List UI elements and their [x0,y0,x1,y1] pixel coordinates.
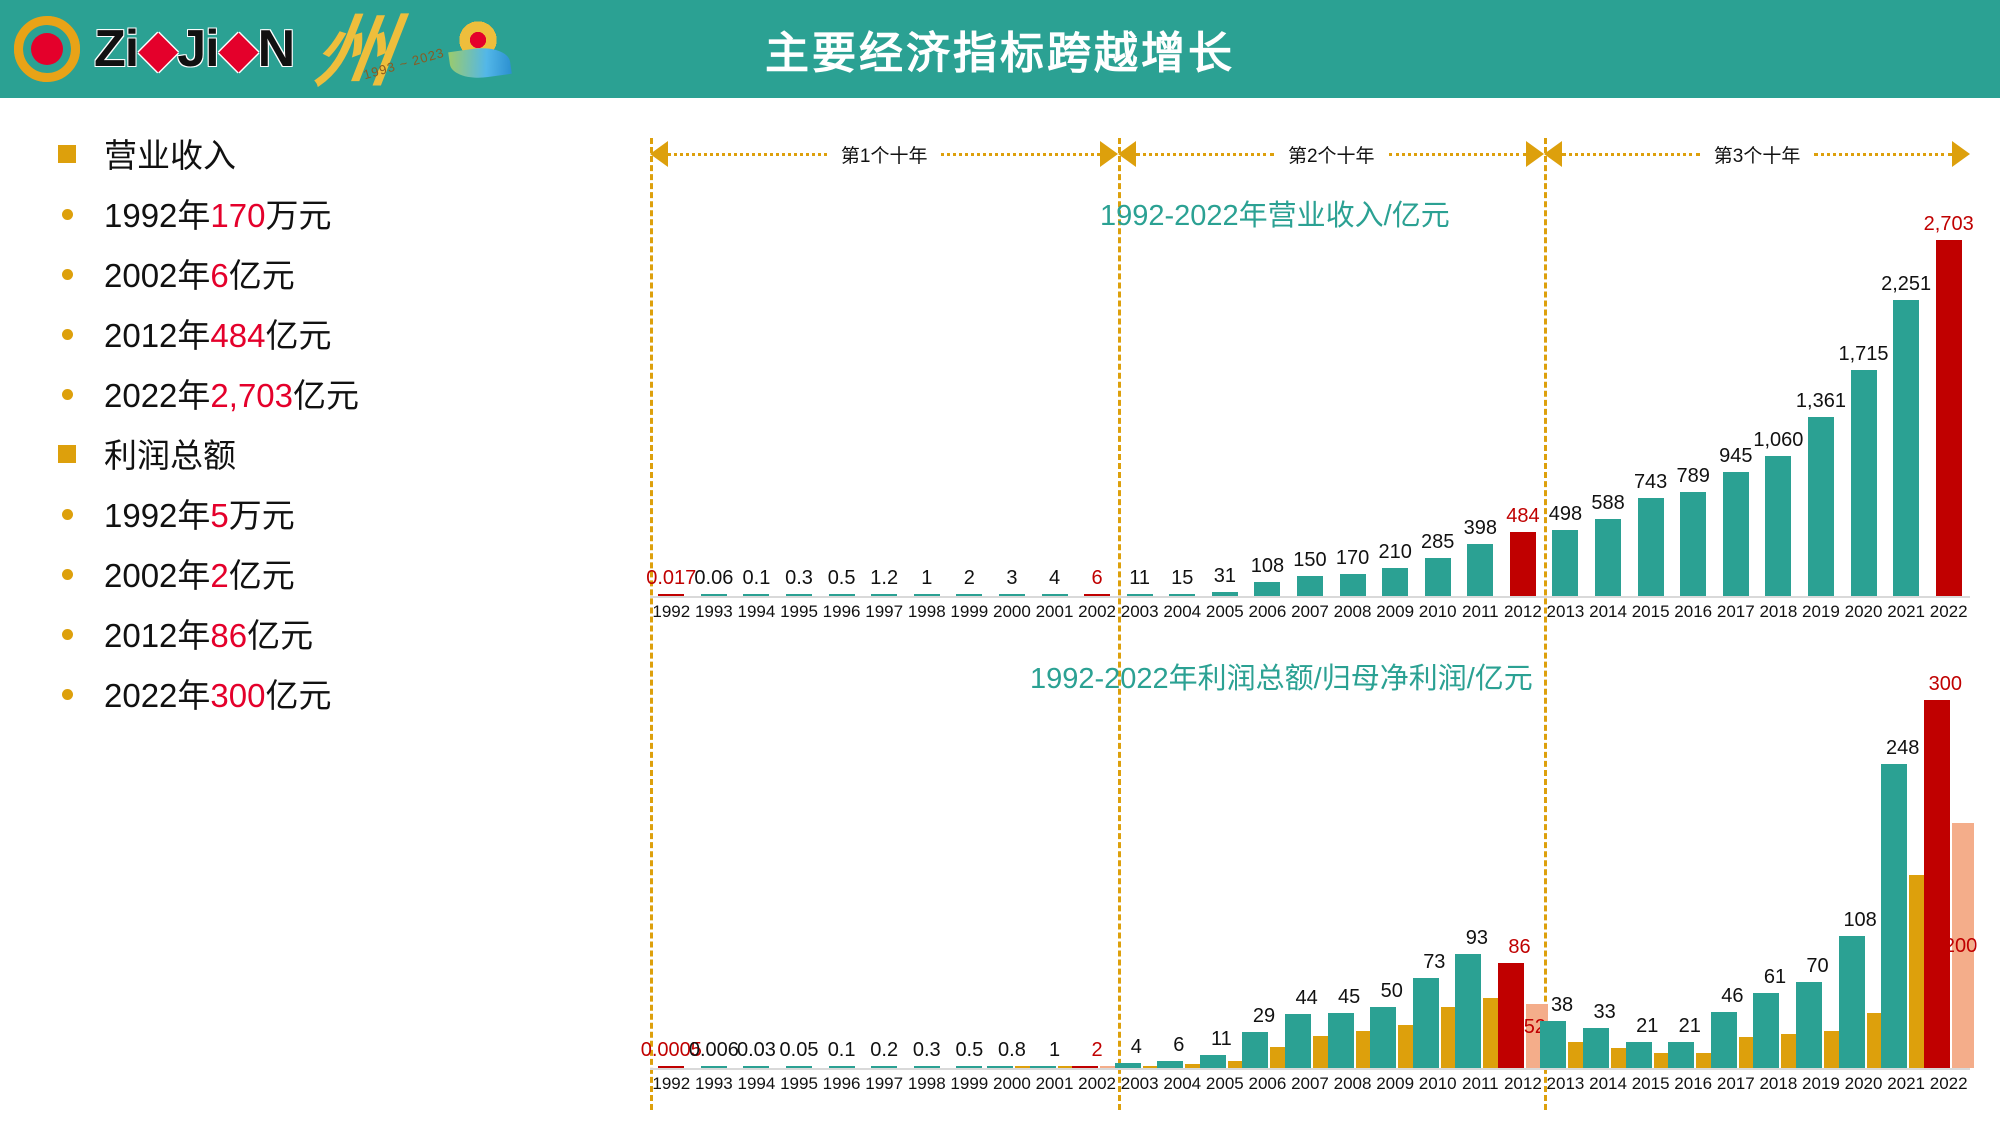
bar-primary [1297,576,1323,596]
chart-category: 0.051995 [778,700,821,1068]
x-axis-tick-label: 2017 [1717,1074,1755,1094]
bar-value-label: 44 [1295,987,1317,1010]
x-axis-tick-label: 1998 [908,1074,946,1094]
bar-primary [1030,1066,1056,1069]
bar-primary [1796,982,1822,1068]
list-item: 2012年86亿元 [58,608,478,668]
logo-center-dot [31,33,63,65]
company-logo: Zi◆Ji◆N 州 1993 ~ 2023 [10,2,506,96]
bar-primary [1157,1061,1183,1068]
x-axis-tick-label: 1997 [865,1074,903,1094]
bar-value-label: 2 [1092,1039,1103,1062]
chart-category: 12001 [1033,700,1076,1068]
logo-word-part1: Zi [94,20,138,78]
chart-bar-group [701,1066,727,1069]
chart-category: 3982011 [1459,240,1502,596]
chart-bar-group [1924,700,1974,1068]
x-axis-tick-label: 2001 [1036,602,1074,622]
key-metrics-list: 营业收入 1992年170万元 2002年6亿元 2012年484亿元 2022… [58,128,478,728]
bar-value-label: 4 [1049,567,1060,590]
metric-heading-revenue: 营业收入 [104,128,236,184]
chart-category: 2852010 [1416,240,1459,596]
chart-bar-group [1169,594,1195,597]
bar-value-label: 150 [1293,549,1326,572]
chart-bar-group [1723,472,1749,596]
chart-category: 86522012 [1502,700,1545,1068]
logo-word-part2: Ji [177,20,218,78]
bar-primary [1413,978,1439,1068]
decade-segment-1: 第1个十年 [650,138,1118,170]
bar-value-label: 300 [1929,673,1962,696]
chart-bar-group [1297,576,1323,596]
x-axis-tick-label: 2015 [1632,1074,1670,1094]
chart-category: 0.00051992 [650,700,693,1068]
revenue-chart-title: 1992-2022年营业收入/亿元 [1100,192,1450,234]
bar-primary [956,1066,982,1069]
x-axis-tick-label: 2000 [993,1074,1031,1094]
bar-primary [701,594,727,597]
chart-category: 1502007 [1289,240,1332,596]
bar-primary [658,594,684,597]
chart-category: 0.51996 [820,240,863,596]
dot-bullet-icon [62,209,73,220]
x-axis-tick-label: 1992 [652,602,690,622]
x-axis-tick-label: 2019 [1802,1074,1840,1094]
x-axis-tick-label: 1994 [738,602,776,622]
list-item: 2002年6亿元 [58,248,478,308]
bar-primary [786,1066,812,1069]
bar-value-label: 0.8 [998,1039,1026,1062]
bar-primary [1839,936,1865,1068]
bar-primary [1498,963,1524,1068]
bar-value-label: 108 [1843,909,1876,932]
decade-dotted-line [941,153,1100,156]
chart-category: 1,3612019 [1800,240,1843,596]
bar-primary [743,1066,769,1069]
logo-word-part3: N [258,20,295,78]
x-axis-tick-label: 2009 [1376,1074,1414,1094]
x-axis-tick-label: 2000 [993,602,1031,622]
bar-value-label: 398 [1464,517,1497,540]
chart-bar-group [1084,594,1110,597]
chart-bar-group [1467,544,1493,596]
bar-primary [1382,568,1408,596]
bar-primary [1200,1055,1226,1068]
bar-primary [786,594,812,597]
chart-category: 382013 [1544,700,1587,1068]
chart-category: 612018 [1757,700,1800,1068]
chart-bar-group [1851,370,1877,596]
bar-value-label: 0.1 [828,1039,856,1062]
bar-primary [1127,594,1153,597]
decade-dotted-line [1814,153,1952,156]
metric-profit-2022: 2022年300亿元 [104,668,331,724]
chart-bar-group [1042,594,1068,597]
x-axis-tick-label: 2016 [1674,1074,1712,1094]
bar-value-label: 61 [1764,966,1786,989]
metric-profit-1992: 1992年5万元 [104,488,295,544]
chart-category: 0.21997 [863,700,906,1068]
bar-primary [1595,519,1621,596]
x-axis-tick-label: 1995 [780,602,818,622]
chart-bar-group [914,594,940,597]
chart-bar-group [701,594,727,597]
x-axis-tick-label: 2008 [1334,1074,1372,1094]
bar-value-label: 2,703 [1924,213,1974,236]
bar-primary [1808,417,1834,596]
bar-value-label: 15 [1171,567,1193,590]
slide-header: Zi◆Ji◆N 州 1993 ~ 2023 主要经济指标跨越增长 [0,0,2000,98]
chart-bar-group [1680,492,1706,596]
chart-category: 932011 [1459,700,1502,1068]
profit-bar-chart: 0.000519920.00619930.0319940.0519950.119… [650,700,1970,1068]
bar-primary [871,594,897,597]
bar-primary [829,594,855,597]
chart-bar-group [829,1066,855,1069]
bar-primary [914,1066,940,1069]
bar-primary [1924,700,1950,1068]
bar-value-label: 1 [921,567,932,590]
x-axis-tick-label: 1999 [950,602,988,622]
x-axis-tick-label: 1993 [695,602,733,622]
chart-category: 0.061993 [693,240,736,596]
x-axis-tick-label: 2012 [1504,602,1542,622]
dot-bullet-icon [62,389,73,400]
chart-category: 212015 [1629,700,1672,1068]
bar-value-label: 170 [1336,547,1369,570]
chart-category: 1.21997 [863,240,906,596]
decade-segment-3: 第3个十年 [1544,138,1970,170]
dot-bullet-icon [62,629,73,640]
bar-value-label: 6 [1092,567,1103,590]
chart-bar-group [871,1066,897,1069]
chart-bar-group [1340,574,1366,596]
x-axis-tick-label: 2018 [1759,602,1797,622]
chart-bar-group [1595,519,1621,596]
x-axis-tick-label: 2007 [1291,602,1329,622]
chart-category: 1,7152020 [1842,240,1885,596]
list-item: 利润总额 [58,428,478,488]
chart-category: 11998 [905,240,948,596]
bar-value-label: 73 [1423,951,1445,974]
profit-axis-baseline [650,1068,1970,1070]
x-axis-tick-label: 2013 [1547,602,1585,622]
x-axis-tick-label: 2009 [1376,602,1414,622]
bar-value-label: 86 [1508,936,1530,959]
decade-dotted-line [668,153,827,156]
bar-value-label: 33 [1594,1001,1616,1024]
chart-bar-group [1808,417,1834,596]
bar-value-label: 0.05 [780,1039,819,1062]
chart-category: 0.031994 [735,700,778,1068]
chart-bar-group [914,1066,940,1069]
bar-primary [1370,1007,1396,1068]
bar-primary [1680,492,1706,596]
bar-primary [1072,1066,1098,1069]
chart-category: 7892016 [1672,240,1715,596]
chart-category: 212016 [1672,700,1715,1068]
x-axis-tick-label: 2010 [1419,1074,1457,1094]
metric-heading-profit: 利润总额 [104,428,236,484]
square-bullet-icon [58,145,76,163]
bar-value-label: 11 [1211,1028,1232,1051]
decade-label-3: 第3个十年 [1700,141,1815,168]
bar-primary [701,1066,727,1069]
x-axis-tick-label: 1996 [823,1074,861,1094]
revenue-bar-chart: 0.01719920.0619930.119940.319950.519961.… [650,240,1970,596]
bar-primary [743,594,769,597]
decade-segment-2: 第2个十年 [1118,138,1544,170]
chart-category: 3002002022 [1927,700,1970,1068]
bar-value-label: 0.5 [828,567,856,590]
bar-value-label: 38 [1551,994,1573,1017]
chart-category: 4982013 [1544,240,1587,596]
chart-category: 0.31995 [778,240,821,596]
chart-bar-group [1425,558,1451,596]
chart-category: 292006 [1246,700,1289,1068]
chart-category: 1,0602018 [1757,240,1800,596]
chart-category: 4842012 [1502,240,1545,596]
chart-bar-group [1638,498,1664,596]
x-axis-tick-label: 2008 [1334,602,1372,622]
bar-value-label: 21 [1679,1015,1701,1038]
arrow-right-icon [1952,141,1970,167]
bar-primary [1723,472,1749,596]
x-axis-tick-label: 2014 [1589,602,1627,622]
chart-category: 0.11996 [820,700,863,1068]
x-axis-tick-label: 2001 [1036,1074,1074,1094]
bar-primary [1084,594,1110,597]
dot-bullet-icon [62,329,73,340]
chart-category: 112005 [1204,700,1247,1068]
dot-bullet-icon [62,509,73,520]
bar-primary [871,1066,897,1069]
chart-category: 442007 [1289,700,1332,1068]
bar-primary [1753,993,1779,1068]
x-axis-tick-label: 2021 [1887,1074,1925,1094]
chart-bar-group [829,594,855,597]
chart-category: 1082020 [1842,700,1885,1068]
bar-value-label: 29 [1253,1005,1275,1028]
bar-value-label: 1,060 [1753,429,1803,452]
chart-bar-group [956,1066,982,1069]
bar-primary [1510,532,1536,596]
chart-bar-group [1510,532,1536,596]
chart-category: 452008 [1331,700,1374,1068]
bar-value-label: 46 [1721,985,1743,1008]
x-axis-tick-label: 2013 [1547,1074,1585,1094]
bar-value-label-secondary: 200 [1944,935,1977,958]
anniversary-calligraphy: 州 [311,14,400,92]
anniversary-emblem: 州 1993 ~ 2023 [316,6,506,92]
bar-primary [829,1066,855,1069]
chart-bar-group [743,594,769,597]
metric-profit-2012: 2012年86亿元 [104,608,313,664]
bar-value-label: 4 [1131,1036,1142,1059]
x-axis-tick-label: 2017 [1717,602,1755,622]
chart-category: 462017 [1715,700,1758,1068]
chart-category: 32000 [991,240,1034,596]
x-axis-tick-label: 2016 [1674,602,1712,622]
chart-category: 0.0061993 [693,700,736,1068]
metric-revenue-2022: 2022年2,703亿元 [104,368,359,424]
x-axis-tick-label: 2005 [1206,1074,1244,1094]
x-axis-tick-label: 2002 [1078,1074,1116,1094]
bar-primary [999,594,1025,597]
x-axis-tick-label: 2015 [1632,602,1670,622]
bar-value-label: 1 [1049,1039,1060,1062]
chart-category: 62004 [1161,700,1204,1068]
x-axis-tick-label: 2012 [1504,1074,1542,1094]
metric-revenue-1992: 1992年170万元 [104,188,331,244]
bar-primary [658,1066,684,1069]
bar-primary [1765,456,1791,596]
bar-primary [1711,1012,1737,1068]
x-axis-tick-label: 2022 [1930,602,1968,622]
logo-diamond-icon: ◆ [138,20,177,78]
chart-category: 2,2512021 [1885,240,1928,596]
chart-category: 42001 [1033,240,1076,596]
bar-value-label: 70 [1806,955,1828,978]
chart-bar-group [999,594,1025,597]
x-axis-tick-label: 1994 [738,1074,776,1094]
bar-primary [1638,498,1664,596]
bar-value-label: 2,251 [1881,273,1931,296]
list-item: 营业收入 [58,128,478,188]
metric-revenue-2012: 2012年484亿元 [104,308,331,364]
arrow-right-icon [1100,141,1118,167]
chart-category: 5882014 [1587,240,1630,596]
x-axis-tick-label: 2022 [1930,1074,1968,1094]
bar-value-label: 0.1 [743,567,771,590]
x-axis-tick-label: 1998 [908,602,946,622]
bar-primary [1455,954,1481,1068]
bar-value-label: 1.2 [870,567,898,590]
bar-value-label: 45 [1338,986,1360,1009]
bar-value-label: 0.3 [785,567,813,590]
chart-bar-group [1212,592,1238,596]
x-axis-tick-label: 2010 [1419,602,1457,622]
x-axis-tick-label: 2002 [1078,602,1116,622]
x-axis-tick-label: 2021 [1887,602,1925,622]
x-axis-tick-label: 1993 [695,1074,733,1094]
bar-primary [1467,544,1493,596]
chart-category: 21999 [948,240,991,596]
chart-bar-group [743,1066,769,1069]
x-axis-tick-label: 2020 [1845,1074,1883,1094]
bar-value-label: 498 [1549,503,1582,526]
revenue-axis-baseline [650,596,1970,598]
bar-value-label: 789 [1677,465,1710,488]
chart-category: 2,7032022 [1927,240,1970,596]
dot-bullet-icon [62,569,73,580]
bar-value-label: 588 [1591,492,1624,515]
bar-value-label: 3 [1006,567,1017,590]
decade-label-1: 第1个十年 [827,141,942,168]
chart-category: 502009 [1374,700,1417,1068]
chart-bar-group [1936,240,1962,596]
bar-value-label: 6 [1173,1034,1184,1057]
zijin-emblem-icon [10,12,84,86]
bar-value-label: 248 [1886,737,1919,760]
chart-category: 0.82000 [991,700,1034,1068]
chart-category: 732010 [1416,700,1459,1068]
x-axis-tick-label: 1999 [950,1074,988,1094]
bar-value-label: 31 [1214,565,1236,588]
bar-primary [1328,1013,1354,1068]
chart-bar-group [1382,568,1408,596]
bar-primary [956,594,982,597]
metric-profit-2002: 2002年2亿元 [104,548,295,604]
chart-category: 22002 [1076,700,1119,1068]
chart-category: 9452017 [1715,240,1758,596]
chart-category: 312005 [1204,240,1247,596]
bar-primary [1340,574,1366,596]
bar-value-label: 2 [964,567,975,590]
arrow-right-icon [1526,141,1544,167]
bar-value-label: 0.5 [955,1039,983,1062]
bar-value-label: 93 [1466,927,1488,950]
bar-value-label: 285 [1421,531,1454,554]
bar-value-label: 0.3 [913,1039,941,1062]
chart-category: 0.51999 [948,700,991,1068]
logo-diamond-icon-2: ◆ [219,20,258,78]
bar-primary [1042,594,1068,597]
bar-primary [1893,300,1919,596]
chart-bar-group [1552,530,1578,596]
bar-value-label: 0.006 [689,1039,739,1062]
square-bullet-icon [58,445,76,463]
list-item: 2022年300亿元 [58,668,478,728]
chart-bar-group [956,594,982,597]
list-item: 2012年484亿元 [58,308,478,368]
bar-value-label: 945 [1719,445,1752,468]
bar-value-label: 743 [1634,471,1667,494]
x-axis-tick-label: 2004 [1163,1074,1201,1094]
chart-category: 2102009 [1374,240,1417,596]
dot-bullet-icon [62,689,73,700]
chart-bar-group [786,594,812,597]
chart-bar-group [1127,594,1153,597]
decade-timeline: 第1个十年 第2个十年 第3个十年 [650,138,1970,170]
bar-primary [1242,1032,1268,1068]
bar-value-label: 21 [1636,1015,1658,1038]
x-axis-tick-label: 2004 [1163,602,1201,622]
bar-value-label: 0.03 [737,1039,776,1062]
x-axis-tick-label: 1996 [823,602,861,622]
decade-dotted-line [1136,153,1274,156]
x-axis-tick-label: 2014 [1589,1074,1627,1094]
bar-primary [1668,1042,1694,1068]
x-axis-tick-label: 2003 [1121,1074,1159,1094]
chart-bar-group [1254,582,1280,596]
bar-primary [1936,240,1962,596]
chart-category: 7432015 [1629,240,1672,596]
bar-primary [1425,558,1451,596]
bar-primary [1169,594,1195,597]
decade-label-2: 第2个十年 [1274,141,1389,168]
bar-value-label: 50 [1381,980,1403,1003]
chart-category: 1082006 [1246,240,1289,596]
bar-value-label: 0.06 [694,567,733,590]
chart-bar-group [871,594,897,597]
x-axis-tick-label: 1997 [865,602,903,622]
bar-value-label: 11 [1129,567,1150,590]
x-axis-tick-label: 2011 [1462,602,1499,622]
list-item: 2022年2,703亿元 [58,368,478,428]
x-axis-tick-label: 2006 [1248,602,1286,622]
list-item: 1992年170万元 [58,188,478,248]
